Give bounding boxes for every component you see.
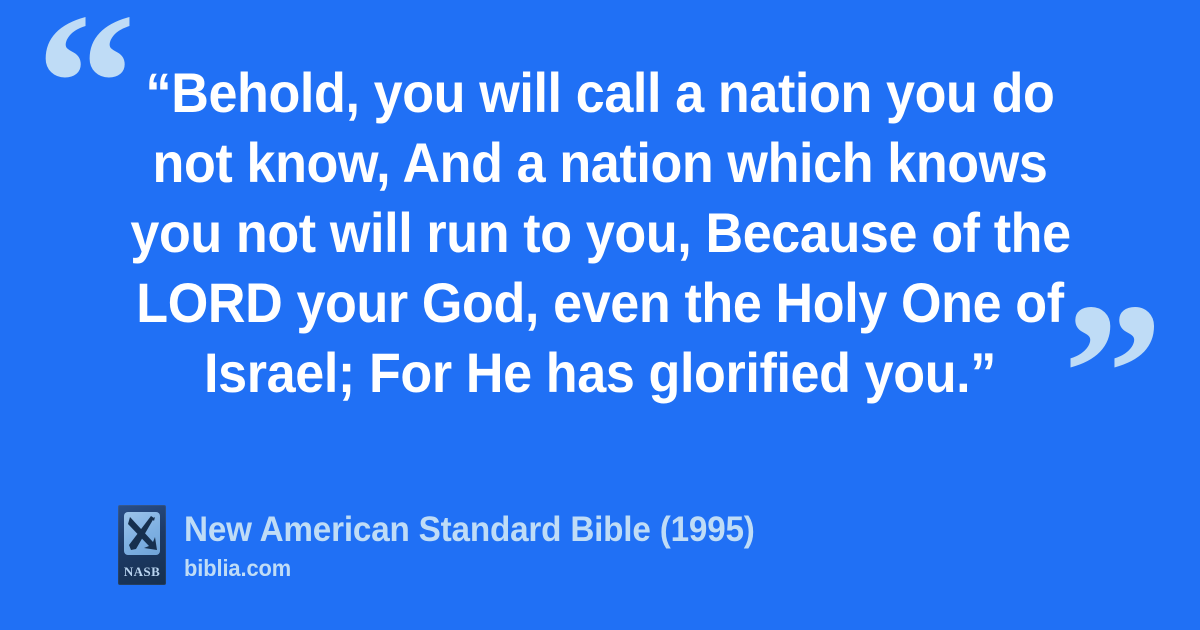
source-website-link[interactable]: biblia.com — [184, 553, 755, 583]
attribution-text: New American Standard Bible (1995) bibli… — [184, 505, 785, 583]
quote-line: not know, And a nation which knows — [130, 128, 1069, 198]
quote-line: “Behold, you will call a nation you do — [130, 58, 1069, 128]
quote-line: Israel; For He has glorified you.” — [130, 338, 1069, 408]
quote-text-block: “Behold, you will call a nation you do n… — [95, 58, 1105, 408]
attribution-footer: NASB New American Standard Bible (1995) … — [118, 505, 785, 585]
quote-card: “ ” “Behold, you will call a nation you … — [0, 0, 1200, 630]
quote-line: you not will run to you, Because of the — [130, 198, 1069, 268]
nasb-logo-word: NASB — [118, 565, 166, 578]
nasb-logo: NASB — [118, 505, 166, 585]
quote-line: LORD your God, even the Holy One of — [130, 268, 1069, 338]
nasb-cross-icon — [124, 512, 160, 555]
bible-version-title: New American Standard Bible (1995) — [184, 509, 755, 551]
